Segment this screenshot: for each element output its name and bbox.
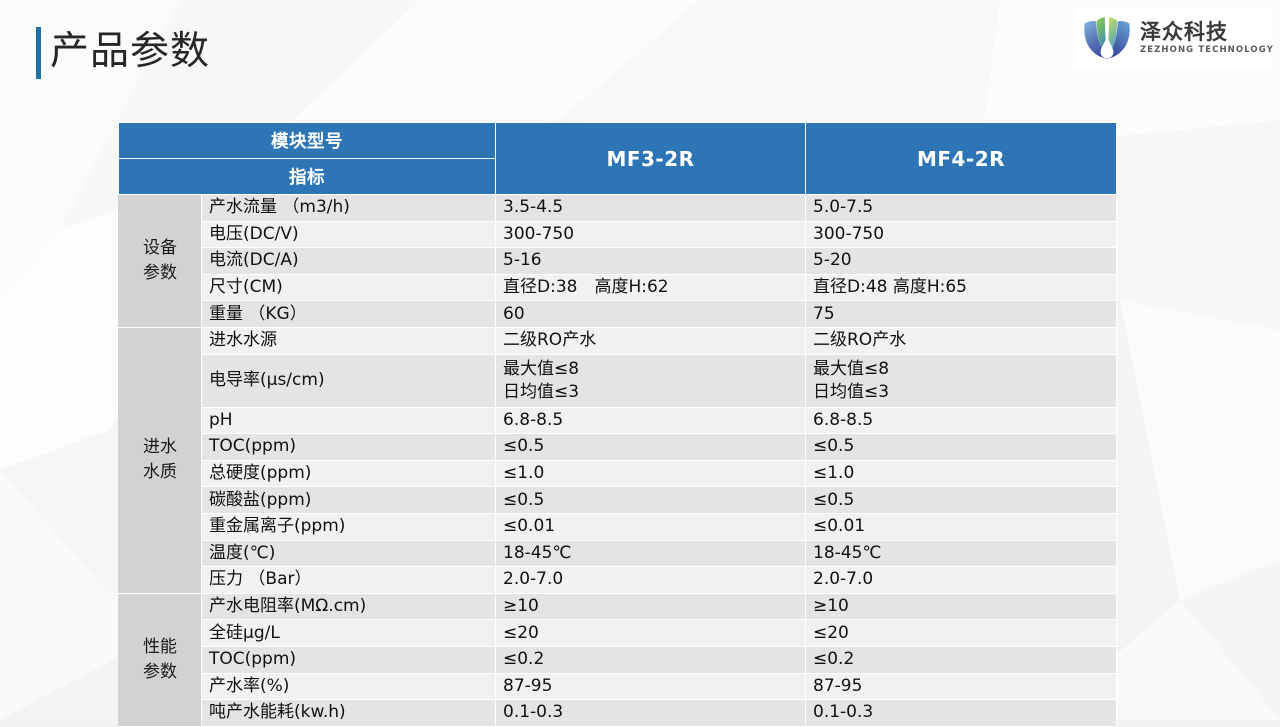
value-line: 300-750: [813, 223, 1116, 246]
header-column-0: MF3-2R: [496, 123, 806, 195]
logo-name-cn: 泽众科技: [1140, 20, 1274, 44]
metric-cell: 总硬度(ppm): [202, 460, 496, 487]
value-cell-col0: 6.8-8.5: [496, 407, 806, 434]
value-line: ≤1.0: [503, 462, 805, 485]
header-metric-label: 指标: [119, 159, 496, 195]
value-line: 直径D:38 高度H:62: [503, 276, 805, 299]
value-cell-col0: 2.0-7.0: [496, 567, 806, 594]
value-line: 二级RO产水: [503, 329, 805, 352]
header-column-1: MF4-2R: [806, 123, 1117, 195]
table-row: 碳酸盐(ppm)≤0.5≤0.5: [119, 487, 1117, 514]
value-line: 75: [813, 303, 1116, 326]
metric-cell: TOC(ppm): [202, 434, 496, 461]
value-cell-col1: 2.0-7.0: [806, 567, 1117, 594]
title-accent-bar: [36, 27, 41, 79]
value-line: 18-45℃: [503, 542, 805, 565]
value-line: 最大值≤8: [813, 358, 1116, 381]
value-line: ≤0.2: [813, 648, 1116, 671]
value-line: ≤0.2: [503, 648, 805, 671]
value-line: 6.8-8.5: [503, 409, 805, 432]
value-cell-col0: ≤0.01: [496, 513, 806, 540]
value-cell-col0: 60: [496, 301, 806, 328]
table-row: 重金属离子(ppm)≤0.01≤0.01: [119, 513, 1117, 540]
metric-cell: 碳酸盐(ppm): [202, 487, 496, 514]
spec-table-container: 模块型号 MF3-2R MF4-2R 指标 设备参数产水流量 （m3/h)3.5…: [118, 122, 1116, 727]
header-model-label: 模块型号: [119, 123, 496, 159]
table-row: 设备参数产水流量 （m3/h)3.5-4.55.0-7.5: [119, 195, 1117, 222]
value-cell-col1: 5.0-7.5: [806, 195, 1117, 222]
metric-cell: 全硅μg/L: [202, 620, 496, 647]
section-label-line: 设备: [119, 236, 201, 261]
value-line: 5.0-7.5: [813, 196, 1116, 219]
metric-cell: 产水率(%): [202, 673, 496, 700]
value-cell-col0: 3.5-4.5: [496, 195, 806, 222]
value-cell-col0: 最大值≤8日均值≤3: [496, 354, 806, 407]
section-label-line: 参数: [119, 261, 201, 286]
value-cell-col1: ≥10: [806, 593, 1117, 620]
table-row: 总硬度(ppm)≤1.0≤1.0: [119, 460, 1117, 487]
value-cell-col0: 0.1-0.3: [496, 700, 806, 727]
value-cell-col0: 5-16: [496, 248, 806, 275]
metric-cell: 重量 （KG）: [202, 301, 496, 328]
value-cell-col1: ≤0.2: [806, 646, 1117, 673]
value-line: ≥10: [813, 595, 1116, 618]
section-label-line: 性能: [119, 635, 201, 660]
value-cell-col1: ≤0.5: [806, 434, 1117, 461]
value-line: ≥10: [503, 595, 805, 618]
value-cell-col1: 直径D:48 高度H:65: [806, 274, 1117, 301]
metric-cell: 产水电阻率(MΩ.cm): [202, 593, 496, 620]
value-line: ≤20: [503, 622, 805, 645]
section-label-line: 进水: [119, 435, 201, 460]
value-cell-col0: ≥10: [496, 593, 806, 620]
value-line: ≤0.5: [813, 435, 1116, 458]
table-head: 模块型号 MF3-2R MF4-2R 指标: [119, 123, 1117, 195]
table-row: 吨产水能耗(kw.h)0.1-0.30.1-0.3: [119, 700, 1117, 727]
table-row: 尺寸(CM)直径D:38 高度H:62直径D:48 高度H:65: [119, 274, 1117, 301]
value-line: 2.0-7.0: [503, 568, 805, 591]
table-row: 重量 （KG）6075: [119, 301, 1117, 328]
table-body: 设备参数产水流量 （m3/h)3.5-4.55.0-7.5电压(DC/V)300…: [119, 195, 1117, 727]
table-row: 压力 （Bar）2.0-7.02.0-7.0: [119, 567, 1117, 594]
value-line: 6.8-8.5: [813, 409, 1116, 432]
metric-cell: 进水水源: [202, 327, 496, 354]
value-line: ≤20: [813, 622, 1116, 645]
metric-cell: 电导率(μs/cm): [202, 354, 496, 407]
value-cell-col1: 二级RO产水: [806, 327, 1117, 354]
value-cell-col1: 300-750: [806, 221, 1117, 248]
value-cell-col1: ≤20: [806, 620, 1117, 647]
section-label-1: 进水水质: [119, 327, 202, 593]
value-line: 5-20: [813, 249, 1116, 272]
value-line: 5-16: [503, 249, 805, 272]
metric-cell: 吨产水能耗(kw.h): [202, 700, 496, 727]
value-cell-col0: 二级RO产水: [496, 327, 806, 354]
value-cell-col1: 最大值≤8日均值≤3: [806, 354, 1117, 407]
table-row: 电流(DC/A)5-165-20: [119, 248, 1117, 275]
value-cell-col0: 300-750: [496, 221, 806, 248]
table-row: 产水率(%)87-9587-95: [119, 673, 1117, 700]
brand-logo: 泽众科技 ZEZHONG TECHNOLOGY: [1074, 8, 1272, 68]
value-cell-col0: ≤0.5: [496, 434, 806, 461]
metric-cell: 电压(DC/V): [202, 221, 496, 248]
section-label-line: 参数: [119, 660, 201, 685]
value-line: 0.1-0.3: [503, 701, 805, 724]
value-cell-col0: 87-95: [496, 673, 806, 700]
value-cell-col0: ≤1.0: [496, 460, 806, 487]
metric-cell: 尺寸(CM): [202, 274, 496, 301]
table-row: 温度(℃)18-45℃18-45℃: [119, 540, 1117, 567]
value-cell-col0: ≤20: [496, 620, 806, 647]
value-line: 87-95: [503, 675, 805, 698]
value-line: 日均值≤3: [813, 381, 1116, 404]
section-label-line: 水质: [119, 460, 201, 485]
section-label-2: 性能参数: [119, 593, 202, 726]
value-cell-col1: 0.1-0.3: [806, 700, 1117, 727]
value-cell-col1: 18-45℃: [806, 540, 1117, 567]
page-title: 产品参数: [50, 24, 210, 80]
value-cell-col1: ≤0.5: [806, 487, 1117, 514]
value-line: 0.1-0.3: [813, 701, 1116, 724]
header-row-model: 模块型号 MF3-2R MF4-2R: [119, 123, 1117, 159]
value-cell-col1: ≤1.0: [806, 460, 1117, 487]
metric-cell: 温度(℃): [202, 540, 496, 567]
value-cell-col0: ≤0.2: [496, 646, 806, 673]
section-label-0: 设备参数: [119, 195, 202, 328]
value-line: 3.5-4.5: [503, 196, 805, 219]
value-line: ≤0.5: [503, 489, 805, 512]
metric-cell: 重金属离子(ppm): [202, 513, 496, 540]
leaf-droplet-icon: [1080, 14, 1134, 62]
value-line: ≤0.01: [813, 515, 1116, 538]
metric-cell: 压力 （Bar）: [202, 567, 496, 594]
value-cell-col1: 75: [806, 301, 1117, 328]
value-line: 87-95: [813, 675, 1116, 698]
value-cell-col0: ≤0.5: [496, 487, 806, 514]
value-line: 2.0-7.0: [813, 568, 1116, 591]
value-line: ≤1.0: [813, 462, 1116, 485]
value-line: 18-45℃: [813, 542, 1116, 565]
value-cell-col1: 5-20: [806, 248, 1117, 275]
value-cell-col0: 18-45℃: [496, 540, 806, 567]
table-row: 电压(DC/V)300-750300-750: [119, 221, 1117, 248]
table-row: pH6.8-8.56.8-8.5: [119, 407, 1117, 434]
value-line: ≤0.01: [503, 515, 805, 538]
value-line: 日均值≤3: [503, 381, 805, 404]
value-cell-col1: 87-95: [806, 673, 1117, 700]
table-row: TOC(ppm)≤0.5≤0.5: [119, 434, 1117, 461]
value-cell-col1: ≤0.01: [806, 513, 1117, 540]
value-line: 最大值≤8: [503, 358, 805, 381]
value-line: 直径D:48 高度H:65: [813, 276, 1116, 299]
metric-cell: pH: [202, 407, 496, 434]
value-line: 二级RO产水: [813, 329, 1116, 352]
table-row: 性能参数产水电阻率(MΩ.cm)≥10≥10: [119, 593, 1117, 620]
value-line: 60: [503, 303, 805, 326]
table-row: TOC(ppm)≤0.2≤0.2: [119, 646, 1117, 673]
table-row: 进水水质进水水源二级RO产水二级RO产水: [119, 327, 1117, 354]
metric-cell: TOC(ppm): [202, 646, 496, 673]
product-spec-table: 模块型号 MF3-2R MF4-2R 指标 设备参数产水流量 （m3/h)3.5…: [118, 122, 1117, 727]
value-line: ≤0.5: [813, 489, 1116, 512]
logo-text-block: 泽众科技 ZEZHONG TECHNOLOGY: [1140, 20, 1274, 56]
value-cell-col1: 6.8-8.5: [806, 407, 1117, 434]
value-line: 300-750: [503, 223, 805, 246]
metric-cell: 产水流量 （m3/h): [202, 195, 496, 222]
table-row: 电导率(μs/cm)最大值≤8日均值≤3最大值≤8日均值≤3: [119, 354, 1117, 407]
value-cell-col0: 直径D:38 高度H:62: [496, 274, 806, 301]
value-line: ≤0.5: [503, 435, 805, 458]
table-row: 全硅μg/L≤20≤20: [119, 620, 1117, 647]
metric-cell: 电流(DC/A): [202, 248, 496, 275]
logo-name-en: ZEZHONG TECHNOLOGY: [1140, 44, 1274, 56]
